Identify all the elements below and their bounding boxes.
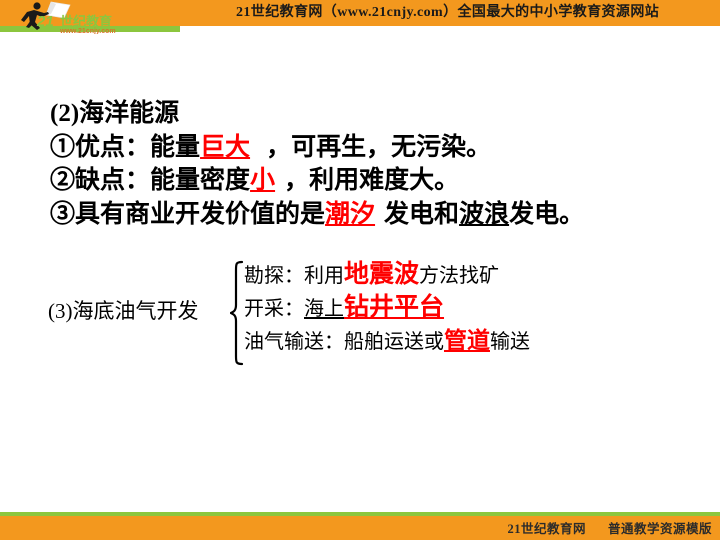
row-2-label: 开采：: [244, 298, 304, 320]
line-1-label: 优点：: [75, 134, 150, 161]
line-3-pre: 具有商业开发价值的是: [75, 201, 325, 228]
section-2-line-2: ②缺点：能量密度小，利用难度大。: [50, 164, 710, 198]
section-3-row-1: 勘探：利用地震波方法找矿: [244, 258, 704, 291]
line-2-marker: ②: [50, 167, 75, 194]
section-2-heading: (2)海洋能源: [50, 97, 710, 131]
section-3-rows: 勘探：利用地震波方法找矿 开采：海上钻井平台 油气输送：船舶运送或管道输送: [244, 258, 704, 357]
line-3-marker: ③: [50, 201, 75, 228]
footer-text: 21世纪教育网普通教学资源模版: [507, 518, 712, 537]
section-3-row-3: 油气输送：船舶运送或管道输送: [244, 324, 704, 357]
section-2-block: (2)海洋能源 ①优点：能量巨大，可再生，无污染。 ②缺点：能量密度小，利用难度…: [50, 97, 710, 231]
footer-site: 21世纪教育网: [507, 522, 586, 536]
row-1-post: 方法找矿: [419, 265, 499, 287]
section-2-line-3: ③具有商业开发价值的是潮汐发电和波浪发电。: [50, 198, 710, 232]
line-1-pre: 能量: [150, 134, 200, 161]
row-3-label: 油气输送：: [244, 331, 344, 353]
line-2-pre: 能量密度: [150, 167, 250, 194]
line-1-marker: ①: [50, 134, 75, 161]
line-2-post: ，利用难度大。: [284, 167, 459, 194]
section-3-row-2: 开采：海上钻井平台: [244, 291, 704, 324]
line-2-label: 缺点：: [75, 167, 150, 194]
page-footer: 21世纪教育网普通教学资源模版: [0, 512, 720, 540]
row-2-highlight: 钻井平台: [344, 294, 444, 321]
row-3-pre: 船舶运送或: [344, 331, 444, 353]
line-2-blank: 小: [250, 167, 275, 194]
row-1-highlight: 地震波: [344, 261, 419, 288]
curly-brace: [230, 260, 244, 366]
slide-content: (2)海洋能源 ①优点：能量巨大，可再生，无污染。 ②缺点：能量密度小，利用难度…: [0, 0, 720, 540]
section-3-block: (3)海底油气开发 勘探：利用地震波方法找矿 开采：海上钻井平台 油气输送：船舶…: [48, 258, 708, 373]
row-3-highlight: 管道: [444, 328, 490, 353]
footer-template: 普通教学资源模版: [608, 522, 712, 536]
line-1-post: ，可再生，无污染。: [266, 134, 491, 161]
line-3-post-a: 发电和: [384, 201, 459, 228]
row-1-label: 勘探：: [244, 265, 304, 287]
row-1-pre: 利用: [304, 265, 344, 287]
row-2-pre: 海上: [304, 298, 344, 320]
section-3-lead: (3)海底油气开发: [48, 296, 199, 326]
line-1-blank: 巨大: [200, 134, 250, 161]
line-3-blank: 潮汐: [325, 201, 375, 228]
line-3-post-b: 发电。: [509, 201, 584, 228]
row-3-post: 输送: [490, 331, 530, 353]
line-3-post-underlined: 波浪: [459, 201, 509, 228]
section-2-line-1: ①优点：能量巨大，可再生，无污染。: [50, 131, 710, 165]
